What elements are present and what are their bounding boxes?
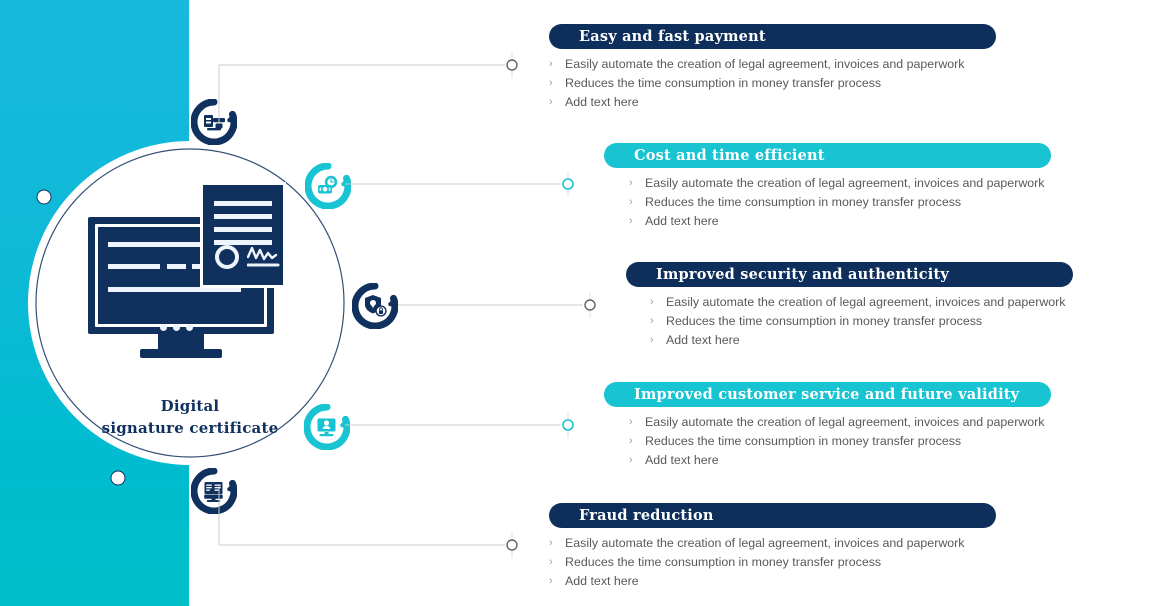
bullet-item: › Easily automate the creation of legal … [629,414,1051,430]
bullet-item: › Reduces the time consumption in money … [629,194,1051,210]
row-title-3: Improved security and authenticity [626,262,1073,287]
chevron-right-icon: › [549,94,565,110]
chevron-right-icon: › [650,332,666,348]
shield-lock-security-icon [352,283,398,329]
bullet-item: › Add text here [629,213,1051,229]
chevron-right-icon: › [650,294,666,310]
screen-text-line [108,264,160,269]
chevron-right-icon: › [549,573,565,589]
bullet-item: › Reduces the time consumption in money … [549,554,996,570]
chevron-right-icon: › [629,452,645,468]
icon-badge-payment[interactable] [191,99,237,145]
certificate-seal-icon [215,245,239,269]
content-row-4: Improved customer service and future val… [604,382,1051,471]
endpoint-marker [563,179,573,189]
icon-badge-fraud-reduction[interactable] [191,468,237,514]
signature-icon [247,243,281,271]
chevron-right-icon: › [549,535,565,551]
monitor-certificate-illustration [88,182,293,357]
endpoint-marker [585,300,595,310]
cost-time-coin-icon [305,163,351,209]
row-title-4: Improved customer service and future val… [604,382,1051,407]
bullet-item: › Easily automate the creation of legal … [549,535,996,551]
icon-badge-security[interactable] [352,283,398,329]
fraud-document-monitor-icon [191,468,237,514]
icon-badge-customer-service[interactable] [304,404,350,450]
bullet-item: › Reduces the time consumption in money … [650,313,1073,329]
row-bullets-4: › Easily automate the creation of legal … [629,414,1051,468]
chevron-right-icon: › [629,175,645,191]
content-row-2: Cost and time efficient › Easily automat… [604,143,1051,232]
content-row-5: Fraud reduction › Easily automate the cr… [549,503,996,592]
bullet-item: › Reduces the time consumption in money … [629,433,1051,449]
row-title-1: Easy and fast payment [549,24,996,49]
row-bullets-3: › Easily automate the creation of legal … [650,294,1073,348]
endpoint-marker [563,420,573,430]
bullet-item: › Easily automate the creation of legal … [549,56,996,72]
certificate-document [200,182,286,288]
center-label-line1: Digital [161,397,220,415]
chevron-right-icon: › [629,414,645,430]
bullet-item: › Reduces the time consumption in money … [549,75,996,91]
chevron-right-icon: › [629,194,645,210]
center-label: Digital signature certificate [30,396,350,440]
chevron-right-icon: › [549,56,565,72]
row-bullets-1: › Easily automate the creation of legal … [549,56,996,110]
bullet-item: › Add text here [629,452,1051,468]
chevron-right-icon: › [650,313,666,329]
icon-badge-cost-time[interactable] [305,163,351,209]
bullet-item: › Add text here [650,332,1073,348]
content-row-3: Improved security and authenticity › Eas… [626,262,1073,351]
monitor-base [140,349,222,358]
central-circle-graphic: Digital signature certificate [0,0,560,606]
chevron-right-icon: › [549,75,565,91]
bullet-item: › Add text here [549,94,996,110]
row-title-5: Fraud reduction [549,503,996,528]
screen-text-line [167,264,186,269]
chevron-right-icon: › [549,554,565,570]
bullet-item: › Easily automate the creation of legal … [650,294,1073,310]
customer-service-monitor-icon [304,404,350,450]
payment-card-icon [191,99,237,145]
chevron-right-icon: › [629,213,645,229]
bullet-item: › Add text here [549,573,996,589]
row-bullets-5: › Easily automate the creation of legal … [549,535,996,589]
chevron-right-icon: › [629,433,645,449]
bullet-item: › Easily automate the creation of legal … [629,175,1051,191]
row-title-2: Cost and time efficient [604,143,1051,168]
infographic-slide: Digital signature certificate [0,0,1166,606]
certificate-line [214,214,272,219]
center-label-line2: signature certificate [102,419,279,437]
monitor-dots [160,318,202,325]
certificate-line [214,201,272,206]
row-bullets-2: › Easily automate the creation of legal … [629,175,1051,229]
content-row-1: Easy and fast payment › Easily automate … [549,24,996,113]
certificate-line [214,227,272,232]
